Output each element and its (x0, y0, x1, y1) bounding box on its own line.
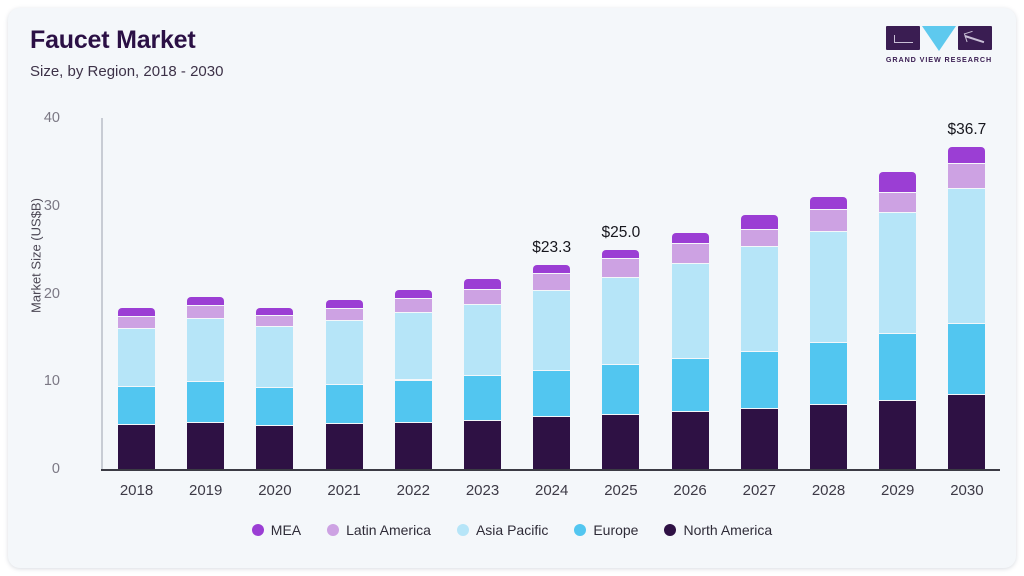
bar-segment[interactable] (741, 351, 778, 408)
chart-card: Faucet Market Size, by Region, 2018 - 20… (8, 8, 1016, 568)
bar-group-2020[interactable]: 2020 (256, 308, 293, 469)
bar-segment[interactable] (672, 411, 709, 469)
x-axis-tick: 2030 (922, 482, 1012, 499)
bar-segment[interactable] (256, 387, 293, 425)
legend-swatch-icon (664, 524, 676, 536)
bar-group-2022[interactable]: 2022 (395, 290, 432, 469)
chart-legend: MEALatin AmericaAsia PacificEuropeNorth … (8, 522, 1016, 538)
bar-segment[interactable] (118, 386, 155, 425)
bar-segment[interactable] (741, 215, 778, 228)
bar-segment[interactable] (948, 188, 985, 323)
bar-segment[interactable] (326, 423, 363, 469)
bar-segment[interactable] (672, 233, 709, 243)
bar-segment[interactable] (533, 416, 570, 469)
legend-item-latin-america[interactable]: Latin America (327, 522, 431, 538)
legend-item-north-america[interactable]: North America (664, 522, 772, 538)
bar-segment[interactable] (464, 375, 501, 420)
bar-group-2021[interactable]: 2021 (326, 300, 363, 469)
bar-segment[interactable] (602, 250, 639, 259)
bar-segment[interactable] (672, 263, 709, 358)
bar-group-2027[interactable]: 2027 (741, 215, 778, 469)
y-axis-tick: 40 (20, 110, 60, 126)
bar-segment[interactable] (672, 243, 709, 263)
bar-segment[interactable] (879, 400, 916, 469)
bar-segment[interactable] (187, 318, 224, 381)
bar-segment[interactable] (602, 258, 639, 276)
bar-segment[interactable] (118, 424, 155, 469)
bar-segment[interactable] (395, 422, 432, 469)
legend-label: Europe (593, 522, 638, 538)
legend-swatch-icon (574, 524, 586, 536)
legend-item-asia-pacific[interactable]: Asia Pacific (457, 522, 548, 538)
bar-segment[interactable] (187, 381, 224, 422)
bar-segment[interactable] (326, 384, 363, 423)
legend-label: Asia Pacific (476, 522, 548, 538)
bar-segment[interactable] (741, 229, 778, 247)
bar-segment[interactable] (741, 246, 778, 351)
bar-segment[interactable] (464, 304, 501, 375)
bar-segment[interactable] (741, 408, 778, 469)
bar-segment[interactable] (602, 414, 639, 469)
bar-segment[interactable] (810, 231, 847, 342)
bar-segment[interactable] (602, 277, 639, 364)
bar-value-label: $25.0 (576, 224, 666, 242)
bar-segment[interactable] (879, 172, 916, 191)
bar-segment[interactable] (672, 358, 709, 412)
bar-segment[interactable] (810, 342, 847, 404)
legend-label: North America (683, 522, 772, 538)
y-axis-tick: 0 (20, 461, 60, 477)
y-axis-tick: 20 (20, 286, 60, 302)
bar-segment[interactable] (948, 163, 985, 188)
bar-segment[interactable] (256, 315, 293, 326)
bar-segment[interactable] (533, 273, 570, 290)
bar-group-2024[interactable]: $23.32024 (533, 265, 570, 469)
bar-segment[interactable] (533, 265, 570, 274)
bar-segment[interactable] (326, 308, 363, 320)
bar-segment[interactable] (948, 394, 985, 469)
y-axis-label: Market Size (US$B) (29, 166, 44, 346)
bar-segment[interactable] (879, 333, 916, 400)
bar-segment[interactable] (326, 320, 363, 384)
bar-segment[interactable] (948, 323, 985, 393)
bar-group-2028[interactable]: 2028 (810, 197, 847, 469)
bar-group-2030[interactable]: $36.72030 (948, 147, 985, 469)
bar-segment[interactable] (256, 425, 293, 469)
bar-segment[interactable] (395, 298, 432, 312)
bar-segment[interactable] (464, 420, 501, 469)
bar-segment[interactable] (879, 212, 916, 333)
bar-segment[interactable] (395, 380, 432, 422)
bar-group-2026[interactable]: 2026 (672, 233, 709, 469)
bar-segment[interactable] (187, 305, 224, 318)
y-axis-line (101, 118, 103, 470)
bar-segment[interactable] (187, 422, 224, 469)
bar-segment[interactable] (256, 326, 293, 387)
bar-segment[interactable] (810, 209, 847, 231)
bar-segment[interactable] (533, 370, 570, 417)
legend-label: Latin America (346, 522, 431, 538)
bar-segment[interactable] (810, 197, 847, 209)
bar-group-2025[interactable]: $25.02025 (602, 250, 639, 469)
bar-segment[interactable] (118, 308, 155, 316)
bar-segment[interactable] (395, 312, 432, 380)
bar-segment[interactable] (187, 297, 224, 305)
bar-segment[interactable] (948, 147, 985, 163)
y-axis-tick: 30 (20, 198, 60, 214)
bar-segment[interactable] (118, 328, 155, 386)
bar-segment[interactable] (326, 300, 363, 308)
legend-item-mea[interactable]: MEA (252, 522, 301, 538)
x-axis-line (101, 469, 1000, 471)
bar-group-2019[interactable]: 2019 (187, 297, 224, 469)
bar-segment[interactable] (533, 290, 570, 370)
bar-segment[interactable] (395, 290, 432, 298)
bar-group-2029[interactable]: 2029 (879, 172, 916, 469)
y-axis-tick: 10 (20, 373, 60, 389)
legend-label: MEA (271, 522, 301, 538)
bar-segment[interactable] (602, 364, 639, 414)
bar-group-2023[interactable]: 2023 (464, 279, 501, 469)
bar-group-2018[interactable]: 2018 (118, 308, 155, 469)
bar-segment[interactable] (810, 404, 847, 469)
bar-chart-plot: Market Size (US$B) 010203040 20182019202… (8, 8, 1016, 568)
bar-segment[interactable] (879, 192, 916, 212)
legend-swatch-icon (457, 524, 469, 536)
bar-segment[interactable] (464, 289, 501, 304)
bar-segment[interactable] (118, 316, 155, 327)
legend-swatch-icon (252, 524, 264, 536)
bar-segment[interactable] (464, 279, 501, 289)
bar-segment[interactable] (256, 308, 293, 315)
legend-swatch-icon (327, 524, 339, 536)
bar-value-label: $36.7 (922, 121, 1012, 139)
legend-item-europe[interactable]: Europe (574, 522, 638, 538)
